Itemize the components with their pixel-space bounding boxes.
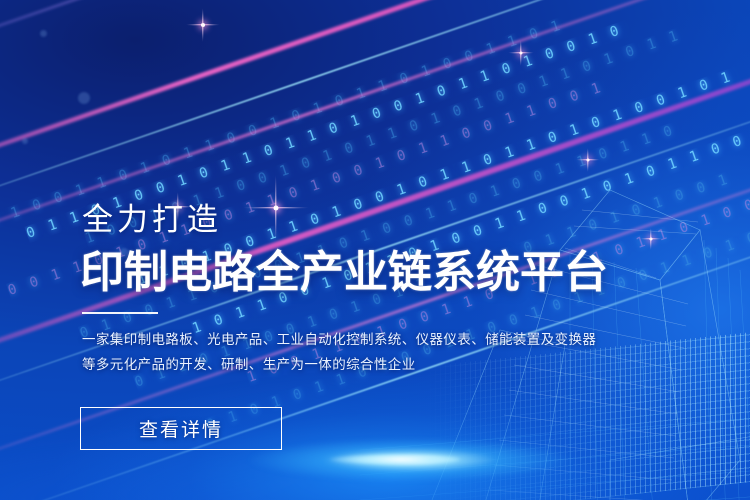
view-details-button[interactable]: 查看详情 [80, 407, 282, 450]
hero-description-line-1: 一家集印制电路板、光电产品、工业自动化控制系统、仪器仪表、储能装置及变换器 [82, 327, 602, 352]
hero-content: 全力打造 印制电路全产业链系统平台 一家集印制电路板、光电产品、工业自动化控制系… [82, 0, 702, 500]
particle-dot [40, 30, 47, 37]
hero-headline: 印制电路全产业链系统平台 [80, 236, 608, 300]
hero-eyebrow: 全力打造 [82, 194, 222, 239]
hero-description-line-2: 等多元化产品的开发、研制、生产为一体的综合性企业 [82, 352, 602, 377]
particle-dot [22, 138, 28, 144]
hero-banner: 1 0 1 0 0 1 1 0 1 0 1 1 0 0 1 0 1 0 1 1 … [0, 0, 750, 500]
hero-description: 一家集印制电路板、光电产品、工业自动化控制系统、仪器仪表、储能装置及变换器 等多… [82, 327, 602, 377]
hero-divider [82, 312, 158, 314]
